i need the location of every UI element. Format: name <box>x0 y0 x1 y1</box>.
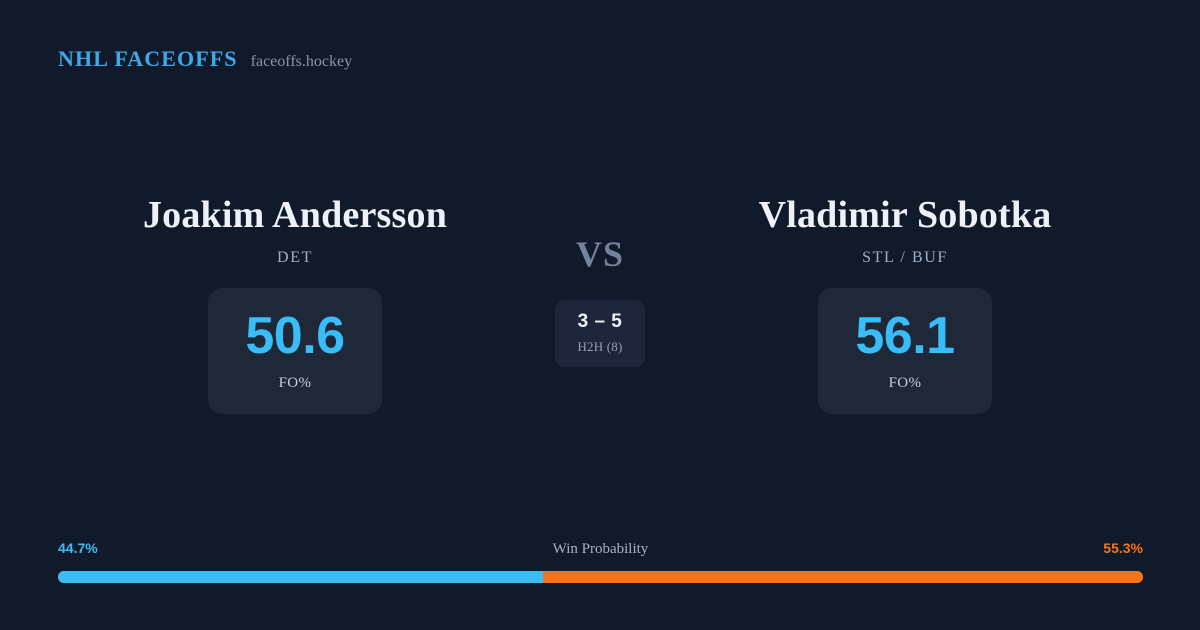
head-to-head-card: 3 – 5 H2H (8) <box>555 300 645 367</box>
faceoff-comparison-card: NHL FACEOFFS faceoffs.hockey Joakim Ande… <box>0 0 1200 630</box>
player-left-stat-card: 50.6 FO% <box>208 288 382 414</box>
site-header: NHL FACEOFFS faceoffs.hockey <box>58 46 352 72</box>
brand-title: NHL FACEOFFS <box>58 46 238 72</box>
versus-column: VS 3 – 5 H2H (8) <box>530 196 670 367</box>
win-probability-bar <box>58 571 1143 583</box>
player-right-faceoff-value: 56.1 <box>855 310 954 362</box>
win-probability-section: 44.7% Win Probability 55.3% <box>58 540 1143 583</box>
player-right-stat-card: 56.1 FO% <box>818 288 992 414</box>
versus-label: VS <box>576 236 624 272</box>
player-left-faceoff-label: FO% <box>279 375 312 392</box>
win-probability-bar-right-fill <box>543 571 1143 583</box>
win-probability-right-value: 55.3% <box>1103 540 1143 556</box>
player-right: Vladimir Sobotka STL / BUF 56.1 FO% <box>670 196 1140 414</box>
player-left: Joakim Andersson DET 50.6 FO% <box>60 196 530 414</box>
win-probability-bar-left-fill <box>58 571 543 583</box>
player-left-faceoff-value: 50.6 <box>245 310 344 362</box>
player-right-team: STL / BUF <box>862 249 948 267</box>
head-to-head-record: 3 – 5 <box>578 312 623 331</box>
player-right-faceoff-label: FO% <box>889 375 922 392</box>
player-left-name: Joakim Andersson <box>143 196 447 234</box>
player-right-name: Vladimir Sobotka <box>759 196 1052 234</box>
site-domain: faceoffs.hockey <box>251 53 352 71</box>
head-to-head-label: H2H (8) <box>577 339 622 355</box>
win-probability-title: Win Probability <box>58 541 1143 558</box>
player-left-team: DET <box>277 249 313 267</box>
win-probability-labels: 44.7% Win Probability 55.3% <box>58 540 1143 562</box>
matchup-row: Joakim Andersson DET 50.6 FO% VS 3 – 5 H… <box>0 196 1200 414</box>
